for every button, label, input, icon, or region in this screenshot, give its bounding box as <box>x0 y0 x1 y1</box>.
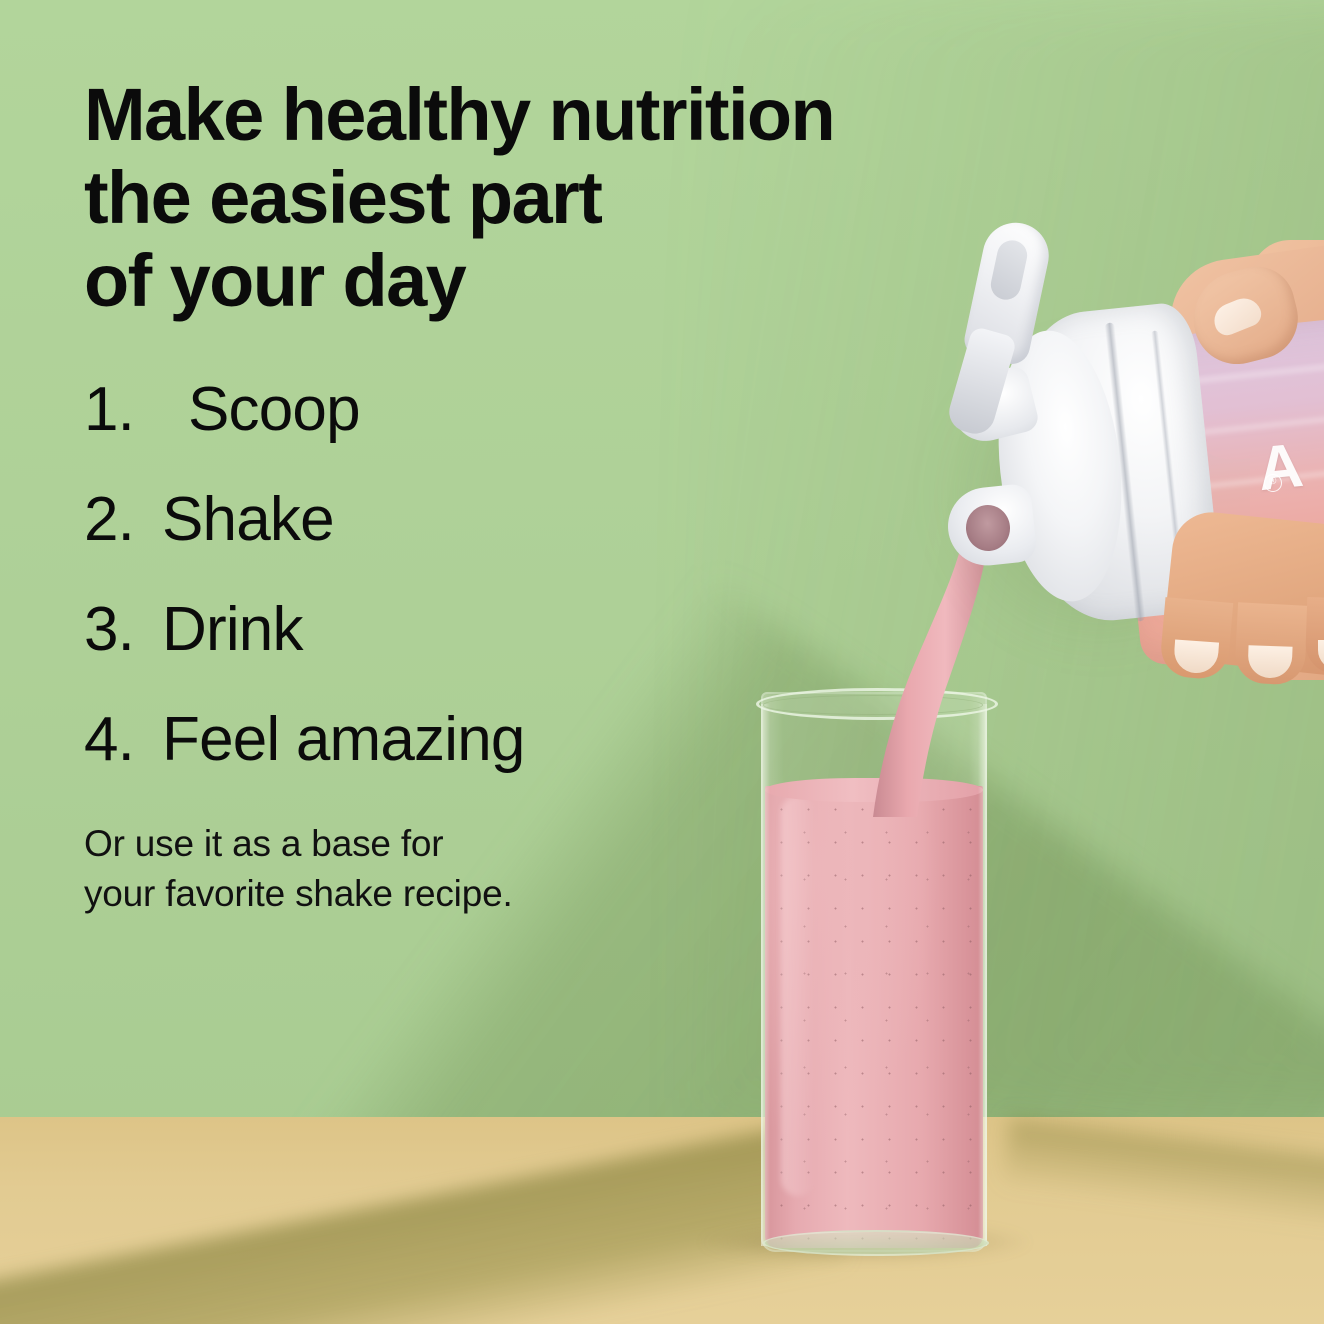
bottle-brand-logo: A <box>1254 430 1307 505</box>
footnote-text: Or use it as a base for your favorite sh… <box>84 819 1144 920</box>
list-item: 2. Shake <box>84 489 1144 551</box>
list-item: 3. Drink <box>84 599 1144 661</box>
list-item: 4. Feel amazing <box>84 709 1144 771</box>
step-number: 2. <box>84 489 162 551</box>
steps-list: 1. Scoop 2. Shake 3. Drink 4. Feel amazi… <box>84 379 1144 771</box>
promo-image: A ® Make healthy nutrition the easiest p… <box>0 0 1324 1324</box>
step-number: 4. <box>84 709 162 771</box>
step-number: 3. <box>84 599 162 661</box>
step-number: 1. <box>84 379 188 441</box>
step-label: Feel amazing <box>162 709 525 771</box>
step-label: Drink <box>162 599 303 661</box>
step-label: Shake <box>162 489 334 551</box>
page-title: Make healthy nutrition the easiest part … <box>84 74 1144 323</box>
step-label: Scoop <box>188 379 360 441</box>
copy-block: Make healthy nutrition the easiest part … <box>84 74 1144 956</box>
list-item: 1. Scoop <box>84 379 1144 441</box>
